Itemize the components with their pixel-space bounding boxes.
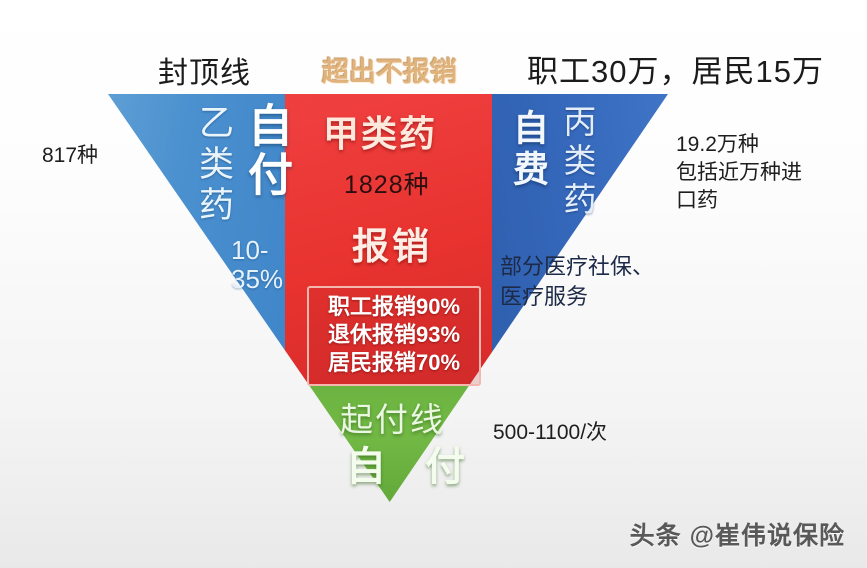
infographic-canvas: 封顶线 超出不报销 职工30万，居民15万 817种 19.2万种 包括近万种进…	[0, 0, 867, 568]
rate-line-retiree: 退休报销93%	[315, 321, 473, 349]
class-b-self-pay-rate: 10- 35%	[231, 236, 283, 294]
deductible-range-note: 500-1100/次	[493, 419, 607, 447]
deductible-payment-label: 自 付	[346, 434, 479, 492]
annual-quota-label: 职工30万，居民15万	[527, 46, 824, 91]
reimbursement-rate-box: 职工报销90% 退休报销93% 居民报销70%	[307, 286, 481, 386]
right-drug-count-note: 19.2万种 包括近万种进 口药	[676, 131, 802, 215]
class-b-drug-label: 乙类药	[188, 104, 239, 227]
excess-not-reimbursed-label: 超出不报销	[322, 50, 457, 89]
class-b-payment-label: 自付	[234, 102, 299, 200]
watermark: 头条 @崔伟说保险	[630, 516, 845, 552]
class-c-payment-label: 自费	[502, 109, 554, 191]
partial-coverage-note: 部分医疗社保、 医疗服务	[500, 252, 654, 311]
left-drug-count-note: 817种	[42, 142, 98, 170]
class-c-drug-label: 丙类药	[553, 104, 601, 221]
class-a-payment-label: 报销	[352, 216, 432, 270]
class-a-drug-label: 甲类药	[323, 105, 437, 157]
rate-line-resident: 居民报销70%	[315, 349, 473, 377]
rate-line-employee: 职工报销90%	[315, 293, 473, 321]
class-a-drug-count: 1828种	[344, 165, 430, 201]
cap-line-label: 封顶线	[158, 48, 251, 92]
